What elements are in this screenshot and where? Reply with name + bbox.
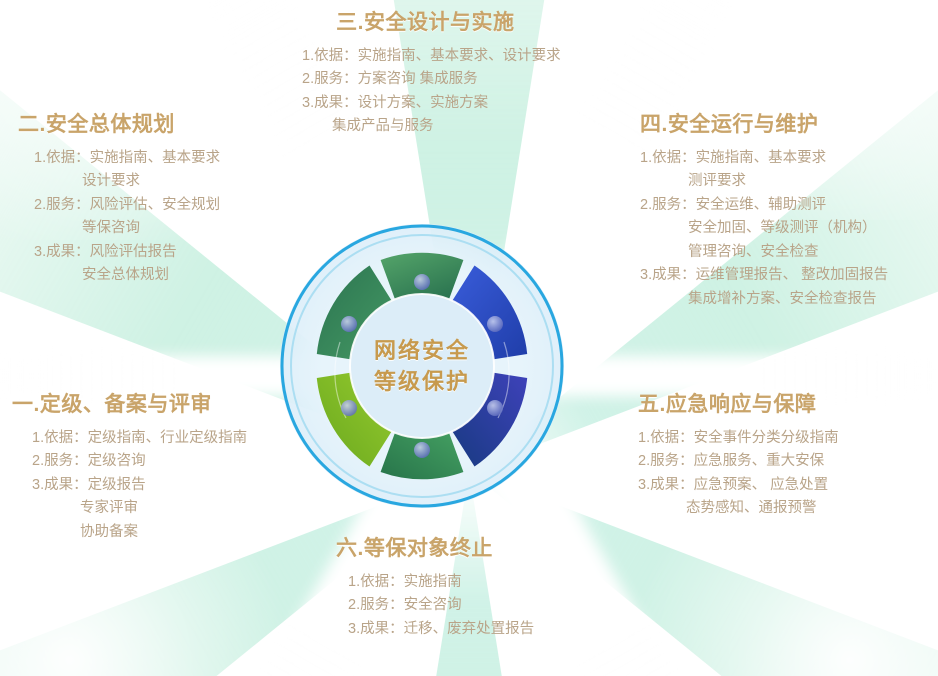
central-ring-graphic: 网络安全 等级保护 <box>278 222 566 510</box>
ring-node-upper-left <box>341 316 357 332</box>
section-4-item-0-cont-0: 测评要求 <box>640 170 888 193</box>
section-2-item-0-cont-0: 设计要求 <box>34 170 220 193</box>
section-1-item-2-cont-1: 协助备案 <box>32 521 247 544</box>
section-2-item-2-cont-0: 安全总体规划 <box>34 264 220 287</box>
ring-node-lower-left <box>341 400 357 416</box>
section-2-item-1-label: 2.服务：风险评估、安全规划 <box>34 197 220 213</box>
section-6-title: 六.等保对象终止 <box>336 532 534 562</box>
section-block-6: 六.等保对象终止 1.依据：实施指南 2.服务：安全咨询 3.成果：迁移、废弃处… <box>336 532 534 641</box>
section-4-title: 四.安全运行与维护 <box>640 108 888 138</box>
section-block-3: 三.安全设计与实施 1.依据：实施指南、基本要求、设计要求 2.服务：方案咨询 … <box>296 6 561 139</box>
list-item: 3.成果：风险评估报告 安全总体规划 <box>34 241 220 288</box>
section-block-5: 五.应急响应与保障 1.依据：安全事件分类分级指南 2.服务：应急服务、重大安保… <box>638 388 839 521</box>
list-item: 1.依据：实施指南、基本要求 测评要求 <box>640 147 888 194</box>
section-2-list: 1.依据：实施指南、基本要求 设计要求 2.服务：风险评估、安全规划 等保咨询 … <box>18 147 220 288</box>
ring-node-lower-right <box>487 400 503 416</box>
list-item: 3.成果：运维管理报告、 整改加固报告 集成增补方案、安全检查报告 <box>640 264 888 311</box>
section-4-item-1-cont-0: 安全加固、等级测评（机构） <box>640 217 888 240</box>
list-item: 2.服务：应急服务、重大安保 <box>638 450 839 473</box>
section-5-title: 五.应急响应与保障 <box>638 388 839 418</box>
ring-node-upper-right <box>487 316 503 332</box>
section-3-item-2-cont-0: 集成产品与服务 <box>302 115 561 138</box>
section-3-item-2-label: 3.成果：设计方案、实施方案 <box>302 95 488 111</box>
section-6-item-1-label: 2.服务：安全咨询 <box>348 597 462 613</box>
section-block-4: 四.安全运行与维护 1.依据：实施指南、基本要求 测评要求 2.服务：安全运维、… <box>640 108 888 311</box>
section-3-item-0-label: 1.依据：实施指南、基本要求、设计要求 <box>302 48 561 64</box>
list-item: 1.依据：实施指南、基本要求、设计要求 <box>302 45 561 68</box>
section-4-item-2-cont-0: 集成增补方案、安全检查报告 <box>640 288 888 311</box>
section-6-item-2-label: 3.成果：迁移、废弃处置报告 <box>348 621 534 637</box>
section-1-item-0-label: 1.依据：定级指南、行业定级指南 <box>32 430 247 446</box>
section-5-item-2-label: 3.成果：应急预案、 应急处置 <box>638 477 828 493</box>
section-block-2: 二.安全总体规划 1.依据：实施指南、基本要求 设计要求 2.服务：风险评估、安… <box>18 108 220 288</box>
section-3-title: 三.安全设计与实施 <box>290 6 561 36</box>
section-1-item-2-cont-0: 专家评审 <box>32 497 247 520</box>
list-item: 2.服务：安全咨询 <box>348 594 534 617</box>
section-1-title: 一.定级、备案与评审 <box>12 388 247 418</box>
section-1-item-2-label: 3.成果：定级报告 <box>32 477 146 493</box>
section-3-list: 1.依据：实施指南、基本要求、设计要求 2.服务：方案咨询 集成服务 3.成果：… <box>296 45 561 139</box>
list-item: 2.服务：风险评估、安全规划 等保咨询 <box>34 194 220 241</box>
list-item: 3.成果：应急预案、 应急处置 态势感知、通报预警 <box>638 474 839 521</box>
section-4-item-0-label: 1.依据：实施指南、基本要求 <box>640 150 826 166</box>
list-item: 2.服务：安全运维、辅助测评 安全加固、等级测评（机构） 管理咨询、安全检查 <box>640 194 888 264</box>
infographic-canvas: 网络安全 等级保护 三.安全设计与实施 1.依据：实施指南、基本要求、设计要求 … <box>0 0 938 676</box>
section-6-list: 1.依据：实施指南 2.服务：安全咨询 3.成果：迁移、废弃处置报告 <box>336 571 534 641</box>
section-5-item-2-cont-0: 态势感知、通报预警 <box>638 497 839 520</box>
section-2-title: 二.安全总体规划 <box>18 108 220 138</box>
list-item: 2.服务：方案咨询 集成服务 <box>302 68 561 91</box>
list-item: 1.依据：安全事件分类分级指南 <box>638 427 839 450</box>
section-2-item-2-label: 3.成果：风险评估报告 <box>34 244 177 260</box>
list-item: 3.成果：定级报告 专家评审 协助备案 <box>32 474 247 544</box>
section-1-item-1-label: 2.服务：定级咨询 <box>32 453 146 469</box>
section-5-item-1-label: 2.服务：应急服务、重大安保 <box>638 453 824 469</box>
ring-node-bottom <box>414 442 430 458</box>
list-item: 2.服务：定级咨询 <box>32 450 247 473</box>
section-4-item-1-cont-1: 管理咨询、安全检查 <box>640 241 888 264</box>
ring-node-top <box>414 274 430 290</box>
list-item: 3.成果：迁移、废弃处置报告 <box>348 618 534 641</box>
section-4-item-2-label: 3.成果：运维管理报告、 整改加固报告 <box>640 267 888 283</box>
section-block-1: 一.定级、备案与评审 1.依据：定级指南、行业定级指南 2.服务：定级咨询 3.… <box>12 388 247 544</box>
list-item: 1.依据：实施指南、基本要求 设计要求 <box>34 147 220 194</box>
list-item: 3.成果：设计方案、实施方案 集成产品与服务 <box>302 92 561 139</box>
list-item: 1.依据：定级指南、行业定级指南 <box>32 427 247 450</box>
section-5-list: 1.依据：安全事件分类分级指南 2.服务：应急服务、重大安保 3.成果：应急预案… <box>638 427 839 521</box>
section-4-list: 1.依据：实施指南、基本要求 测评要求 2.服务：安全运维、辅助测评 安全加固、… <box>640 147 888 311</box>
section-2-item-1-cont-0: 等保咨询 <box>34 217 220 240</box>
list-item: 1.依据：实施指南 <box>348 571 534 594</box>
section-4-item-1-label: 2.服务：安全运维、辅助测评 <box>640 197 826 213</box>
section-2-item-0-label: 1.依据：实施指南、基本要求 <box>34 150 220 166</box>
section-6-item-0-label: 1.依据：实施指南 <box>348 574 462 590</box>
section-1-list: 1.依据：定级指南、行业定级指南 2.服务：定级咨询 3.成果：定级报告 专家评… <box>12 427 247 544</box>
section-3-item-1-label: 2.服务：方案咨询 集成服务 <box>302 71 478 87</box>
section-5-item-0-label: 1.依据：安全事件分类分级指南 <box>638 430 839 446</box>
